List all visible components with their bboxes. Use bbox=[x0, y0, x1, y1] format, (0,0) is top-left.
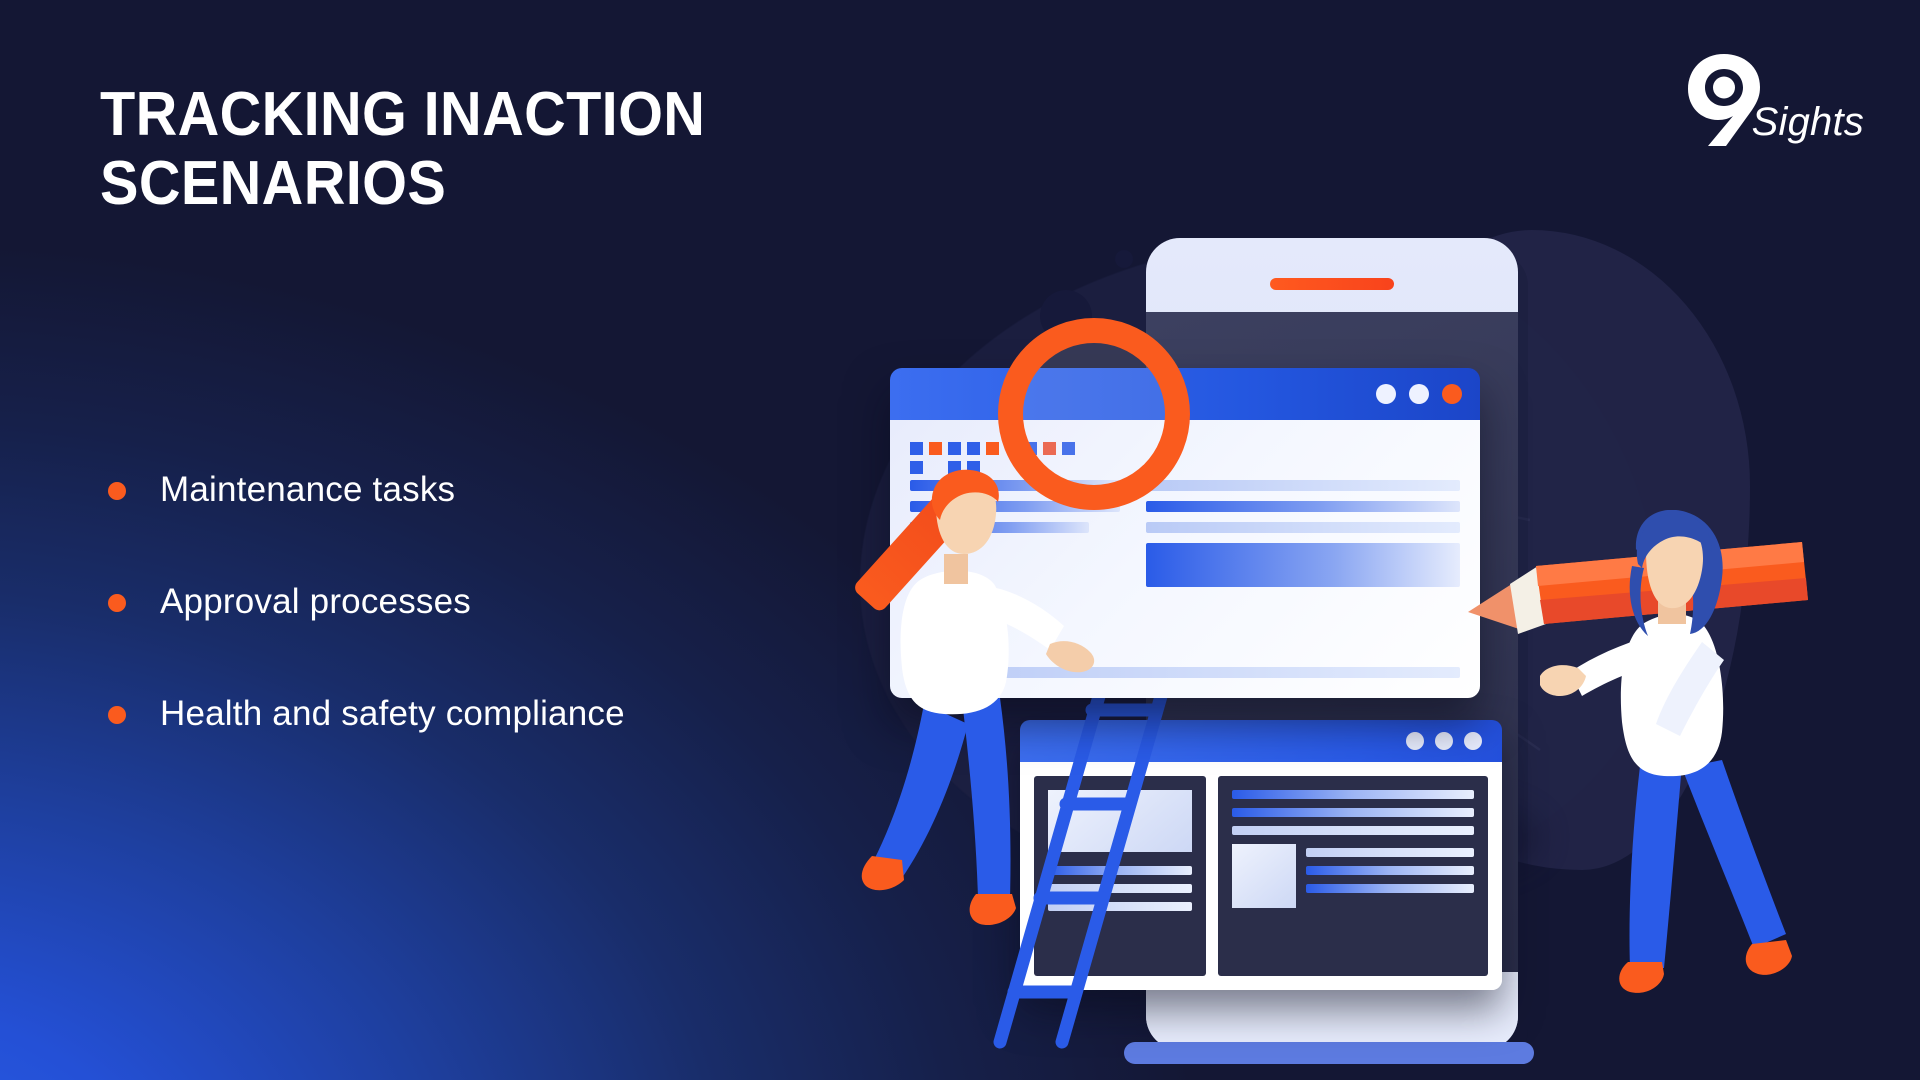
page-title: TRACKING INACTION SCENARIOS bbox=[100, 80, 872, 219]
nine-mark-icon bbox=[1684, 52, 1762, 148]
window-dot-icon[interactable] bbox=[1409, 384, 1429, 404]
headline-line-1: TRACKING INACTION bbox=[100, 80, 705, 149]
slide-canvas: TRACKING INACTION SCENARIOS Maintenance … bbox=[0, 0, 1920, 1080]
panel-row bbox=[1232, 844, 1474, 908]
list-item: Approval processes bbox=[108, 582, 888, 622]
window-dot-icon[interactable] bbox=[1464, 732, 1482, 750]
placeholder-line-stack bbox=[1306, 844, 1474, 908]
placeholder-line bbox=[1306, 848, 1474, 857]
window-dot-icon[interactable] bbox=[1435, 732, 1453, 750]
brand-logo: Sights bbox=[1684, 52, 1864, 148]
brand-name: Sights bbox=[1752, 102, 1864, 142]
headline-line-2: SCENARIOS bbox=[100, 149, 872, 218]
pixel-cell bbox=[967, 442, 980, 455]
placeholder-line bbox=[1146, 522, 1460, 533]
placeholder-line bbox=[1146, 501, 1460, 512]
pixel-cell bbox=[910, 442, 923, 455]
content-panel-right bbox=[1218, 776, 1488, 976]
phone-speaker-icon bbox=[1270, 278, 1394, 290]
placeholder-thumbnail bbox=[1232, 844, 1296, 908]
bullet-dot-icon bbox=[108, 706, 126, 724]
placeholder-line bbox=[1306, 866, 1474, 875]
window-dot-icon[interactable] bbox=[1406, 732, 1424, 750]
pixel-cell bbox=[929, 442, 942, 455]
placeholder-line bbox=[1232, 826, 1474, 835]
man-on-ladder-with-magnifier bbox=[858, 468, 1108, 938]
bullet-list: Maintenance tasks Approval processes Hea… bbox=[108, 470, 888, 734]
placeholder-line bbox=[1232, 790, 1474, 799]
bullet-dot-icon bbox=[108, 594, 126, 612]
placeholder-line bbox=[1232, 808, 1474, 817]
placeholder-line bbox=[1306, 884, 1474, 893]
woman-carrying-pencil bbox=[1540, 510, 1840, 1030]
pixel-cell bbox=[948, 442, 961, 455]
window-close-icon[interactable] bbox=[1442, 384, 1462, 404]
pixel-cell bbox=[986, 442, 999, 455]
placeholder-line bbox=[1146, 480, 1460, 491]
window-controls[interactable] bbox=[1376, 384, 1462, 404]
list-item: Maintenance tasks bbox=[108, 470, 888, 510]
bullet-label: Approval processes bbox=[160, 582, 471, 622]
bullet-dot-icon bbox=[108, 482, 126, 500]
window-dot-icon[interactable] bbox=[1376, 384, 1396, 404]
hero-illustration bbox=[850, 190, 1920, 1080]
bullet-label: Health and safety compliance bbox=[160, 694, 625, 734]
bullet-label: Maintenance tasks bbox=[160, 470, 455, 510]
list-item: Health and safety compliance bbox=[108, 694, 888, 734]
window-controls[interactable] bbox=[1406, 732, 1482, 750]
